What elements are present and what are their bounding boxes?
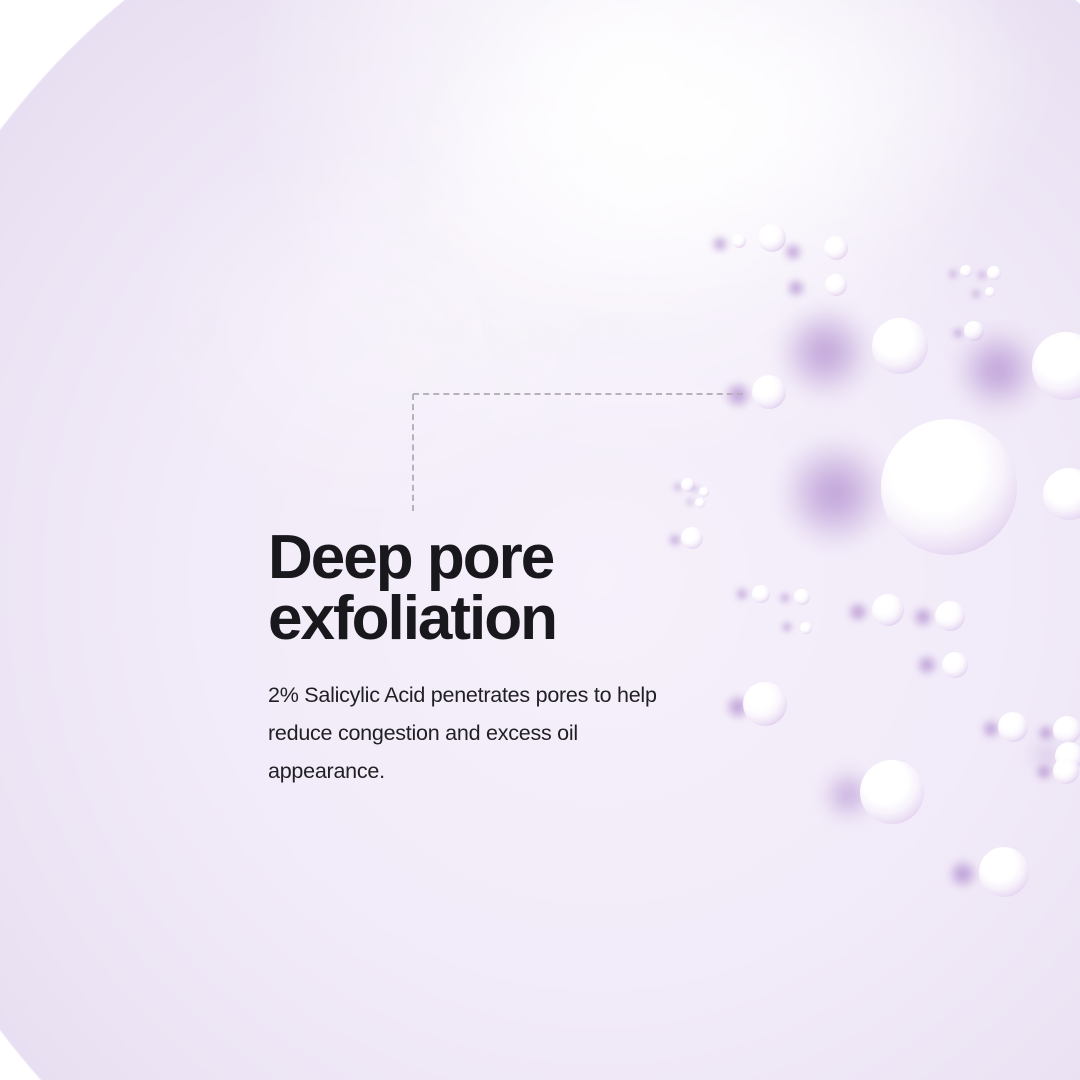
bubble [860, 760, 924, 824]
bubble [699, 487, 709, 497]
bubble [752, 375, 786, 409]
bubble-shadow [952, 327, 964, 339]
bubble [824, 236, 848, 260]
bubble [872, 318, 928, 374]
bubble-shadow [783, 242, 803, 262]
copy-block: Deep pore exfoliation 2% Salicylic Acid … [268, 528, 698, 790]
bubble-shadow [847, 601, 869, 623]
bubble-shadow [783, 441, 887, 545]
bubble [1053, 716, 1080, 744]
bubble [872, 594, 904, 626]
bubble [825, 274, 847, 296]
bubble [743, 682, 787, 726]
bubble-shadow [948, 269, 958, 279]
bubble [985, 287, 995, 297]
bubble-shadow [977, 270, 987, 280]
bubble-shadow [786, 278, 806, 298]
bubble-shadow [686, 498, 694, 506]
bubble [752, 585, 770, 603]
bubble [732, 234, 746, 248]
bubble [1053, 758, 1079, 784]
sphere-secondary-highlight [120, 120, 640, 540]
bubble-shadow [971, 289, 981, 299]
bubble [800, 622, 812, 634]
bubble [998, 712, 1028, 742]
bubble [987, 266, 1001, 280]
bubble-shadow [1035, 763, 1053, 781]
body-text: 2% Salicylic Acid penetrates pores to he… [268, 676, 688, 791]
bubble-shadow [781, 308, 869, 396]
bubble [794, 589, 810, 605]
bubble [979, 847, 1029, 897]
bubble [942, 652, 968, 678]
poster-canvas: Deep pore exfoliation 2% Salicylic Acid … [0, 0, 1080, 1080]
bubble-shadow [711, 235, 729, 253]
bubble-shadow [916, 654, 938, 676]
bubble [935, 601, 965, 631]
bubble-shadow [912, 606, 934, 628]
bubble-shadow [948, 859, 978, 889]
dashed-connector-vertical [412, 394, 414, 511]
bubble [695, 498, 705, 508]
bubble-shadow [691, 485, 699, 493]
dashed-connector-horizontal [413, 393, 743, 395]
bubble-shadow [781, 621, 793, 633]
bubble-shadow [735, 587, 749, 601]
bubble-shadow [958, 330, 1038, 410]
bubble [960, 265, 972, 277]
bubble-shadow [779, 592, 791, 604]
bubble [881, 419, 1017, 555]
bubble-shadow [724, 381, 752, 409]
bubble [758, 224, 786, 252]
page-title: Deep pore exfoliation [268, 528, 698, 650]
